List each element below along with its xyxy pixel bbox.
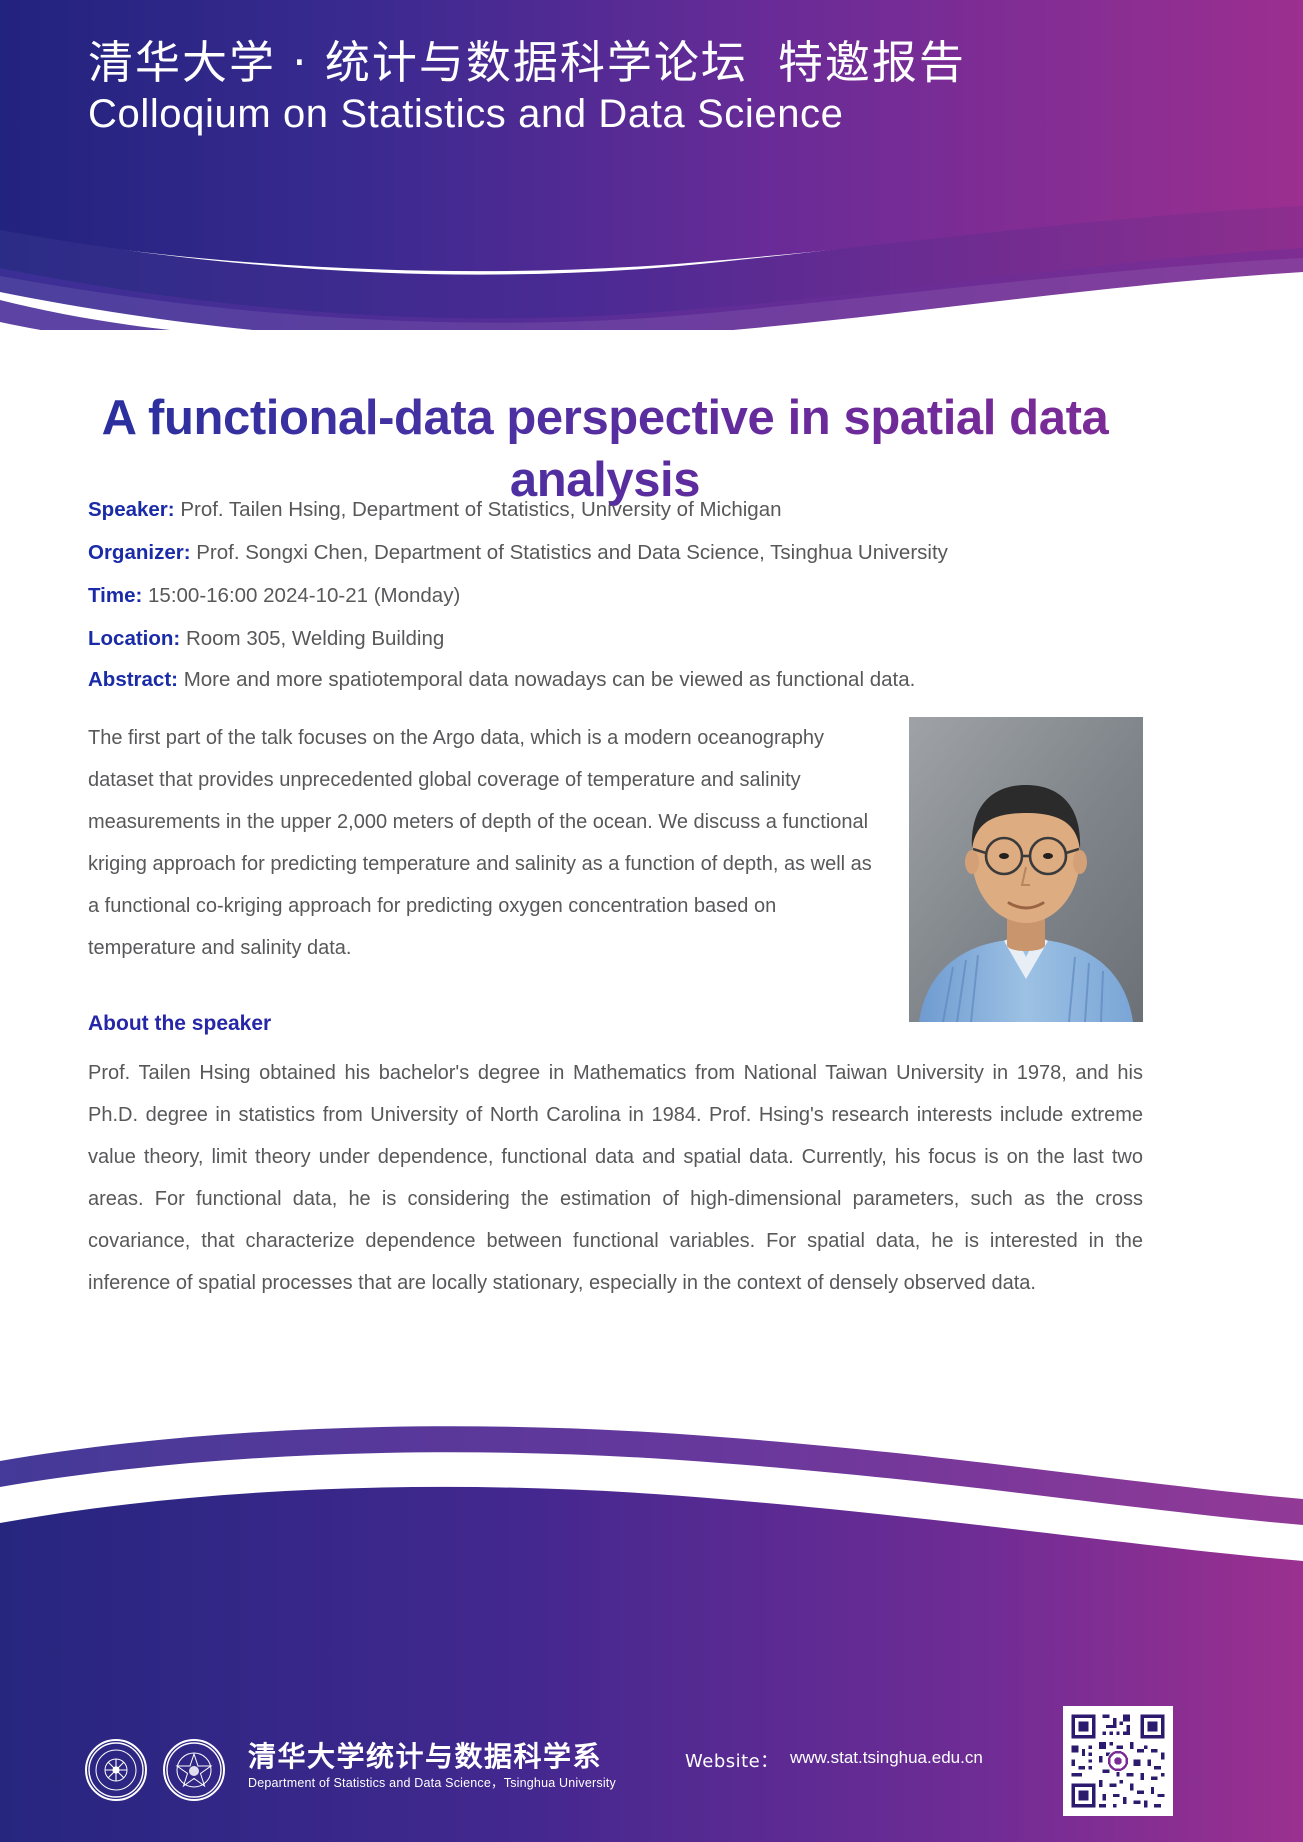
abstract-lead-line: Abstract: More and more spatiotemporal d…	[88, 670, 1143, 691]
page-title: A functional-data perspective in spatial…	[100, 388, 1110, 511]
footer-content: 清华大学统计与数据科学系 Department of Statistics an…	[0, 1735, 1303, 1842]
tsinghua-university-seal-icon	[85, 1739, 147, 1801]
abstract-label: Abstract:	[88, 668, 178, 691]
abstract-section: Abstract: More and more spatiotemporal d…	[88, 670, 1143, 1030]
detail-value-organizer: Prof. Songxi Chen, Department of Statist…	[196, 541, 948, 564]
detail-value-speaker: Prof. Tailen Hsing, Department of Statis…	[180, 498, 781, 521]
speaker-photo	[909, 717, 1143, 1022]
detail-label-time: Time:	[88, 584, 142, 607]
detail-row-speaker: Speaker: Prof. Tailen Hsing, Department …	[88, 500, 1143, 521]
detail-value-time: 15:00-16:00 2024-10-21 (Monday)	[148, 584, 460, 607]
detail-row-organizer: Organizer: Prof. Songxi Chen, Department…	[88, 543, 1143, 564]
qr-code[interactable]	[1063, 1706, 1173, 1816]
speaker-portrait-graphic	[909, 717, 1143, 1022]
department-name-chinese: 清华大学统计与数据科学系	[248, 1735, 602, 1775]
event-details: Speaker: Prof. Tailen Hsing, Department …	[88, 500, 1143, 672]
header-title-chinese-right: 特邀报告	[778, 36, 966, 89]
department-name-english: Department of Statistics and Data Scienc…	[248, 1772, 616, 1791]
about-speaker-text: Prof. Tailen Hsing obtained his bachelor…	[88, 1052, 1143, 1304]
header-title-chinese: 清华大学 · 统计与数据科学论坛特邀报告	[88, 36, 1138, 89]
header-banner: 清华大学 · 统计与数据科学论坛特邀报告 Colloqium on Statis…	[0, 0, 1303, 330]
detail-label-location: Location:	[88, 627, 180, 650]
header-title-group: 清华大学 · 统计与数据科学论坛特邀报告 Colloqium on Statis…	[88, 36, 1138, 137]
detail-label-organizer: Organizer:	[88, 541, 191, 564]
department-seal-icon	[163, 1739, 225, 1801]
detail-row-time: Time: 15:00-16:00 2024-10-21 (Monday)	[88, 586, 1143, 607]
abstract-lead-text: More and more spatiotemporal data nowada…	[184, 668, 916, 691]
about-speaker-heading: About the speaker	[88, 1012, 271, 1036]
detail-row-location: Location: Room 305, Welding Building	[88, 629, 1143, 650]
website-url[interactable]: www.stat.tsinghua.edu.cn	[790, 1748, 983, 1768]
header-title-english: Colloqium on Statistics and Data Science	[88, 91, 1138, 137]
website-label: Website：	[685, 1747, 779, 1773]
header-title-chinese-left: 清华大学 · 统计与数据科学论坛	[88, 36, 748, 89]
detail-label-speaker: Speaker:	[88, 498, 175, 521]
detail-value-location: Room 305, Welding Building	[186, 627, 444, 650]
